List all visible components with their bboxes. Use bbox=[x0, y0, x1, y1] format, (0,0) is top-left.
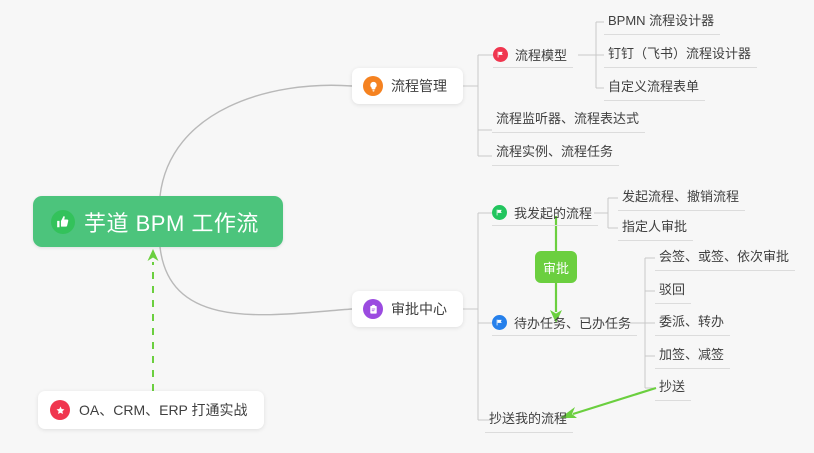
leaf-node-add-remove-sign[interactable]: 加签、减签 bbox=[655, 343, 730, 369]
root-label: 芋道 BPM 工作流 bbox=[84, 206, 259, 238]
flag-icon bbox=[493, 47, 508, 62]
annotation-cc-line bbox=[573, 388, 656, 414]
leaf-node-process-listener-expression[interactable]: 流程监听器、流程表达式 bbox=[492, 107, 645, 133]
callout-node-integration[interactable]: OA、CRM、ERP 打通实战 bbox=[38, 391, 264, 429]
branch-label-process-management: 流程管理 bbox=[391, 76, 447, 96]
leaf-node-assignee-approval[interactable]: 指定人审批 bbox=[618, 215, 693, 241]
branch-node-process-management[interactable]: 流程管理 bbox=[352, 68, 463, 104]
link-root-to-process-management bbox=[160, 85, 352, 196]
flag-icon bbox=[492, 205, 507, 220]
sub-label-my-started-process: 我发起的流程 bbox=[514, 203, 592, 222]
sub-node-my-started-process[interactable]: 我发起的流程 bbox=[492, 200, 598, 226]
leaf-node-countersign-orsign-sequential[interactable]: 会签、或签、依次审批 bbox=[655, 245, 795, 271]
annotation-chip-label: 审批 bbox=[543, 258, 569, 277]
flag-icon bbox=[492, 315, 507, 330]
leaf-node-bpmn-designer[interactable]: BPMN 流程设计器 bbox=[604, 9, 720, 35]
leaf-node-dingtalk-feishu-designer[interactable]: 钉钉（飞书）流程设计器 bbox=[604, 42, 757, 68]
sub-node-todo-done-tasks[interactable]: 待办任务、已办任务 bbox=[492, 310, 637, 336]
branch-label-approval-center: 审批中心 bbox=[391, 299, 447, 319]
branch-node-approval-center[interactable]: 审批中心 bbox=[352, 291, 463, 327]
leaf-node-reject[interactable]: 驳回 bbox=[655, 278, 691, 304]
clipboard-icon bbox=[363, 299, 383, 319]
star-icon bbox=[50, 400, 70, 420]
sub-label-todo-done-tasks: 待办任务、已办任务 bbox=[514, 313, 631, 332]
callout-label: OA、CRM、ERP 打通实战 bbox=[79, 400, 248, 420]
annotation-chip-approval[interactable]: 审批 bbox=[535, 251, 577, 283]
leaf-node-custom-process-form[interactable]: 自定义流程表单 bbox=[604, 75, 705, 101]
lightbulb-icon bbox=[363, 76, 383, 96]
leaf-node-start-cancel-process[interactable]: 发起流程、撤销流程 bbox=[618, 185, 745, 211]
mindmap-canvas: 芋道 BPM 工作流 流程管理 审批中心 bbox=[0, 0, 814, 453]
sub-label-process-model: 流程模型 bbox=[515, 45, 567, 64]
leaf-node-cc-my-process[interactable]: 抄送我的流程 bbox=[485, 407, 573, 433]
thumbs-up-icon bbox=[51, 210, 75, 234]
leaf-node-process-instance-task[interactable]: 流程实例、流程任务 bbox=[492, 140, 619, 166]
root-node[interactable]: 芋道 BPM 工作流 bbox=[33, 196, 283, 247]
annotation-arrow-head-up bbox=[148, 249, 159, 261]
leaf-node-delegate-transfer[interactable]: 委派、转办 bbox=[655, 310, 730, 336]
sub-node-process-model[interactable]: 流程模型 bbox=[493, 42, 573, 68]
link-root-to-approval-center bbox=[160, 247, 352, 315]
leaf-node-cc[interactable]: 抄送 bbox=[655, 375, 691, 401]
